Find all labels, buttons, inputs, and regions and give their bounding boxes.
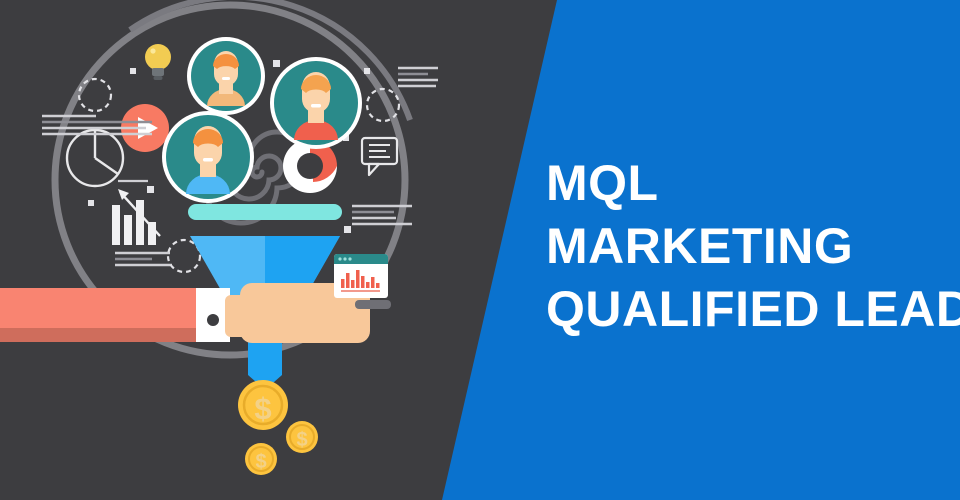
- coin-small-right: $: [286, 421, 318, 453]
- svg-text:$: $: [255, 451, 266, 473]
- coin-large: $: [238, 380, 288, 430]
- svg-text:$: $: [254, 391, 271, 426]
- illustration-canvas: $ $ $: [0, 0, 960, 500]
- coin-small-bottom: $: [245, 443, 277, 475]
- avatar-top-right: [270, 57, 362, 149]
- avatar-top-left: [187, 37, 265, 115]
- hand-holding-funnel: [0, 283, 391, 343]
- avatar-bottom-left: [162, 111, 254, 203]
- analytics-browser-window: [334, 254, 388, 298]
- mql-banner: $ $ $ MQL MARKETING QUALIFIED LEAD: [0, 0, 960, 500]
- svg-text:$: $: [296, 429, 307, 451]
